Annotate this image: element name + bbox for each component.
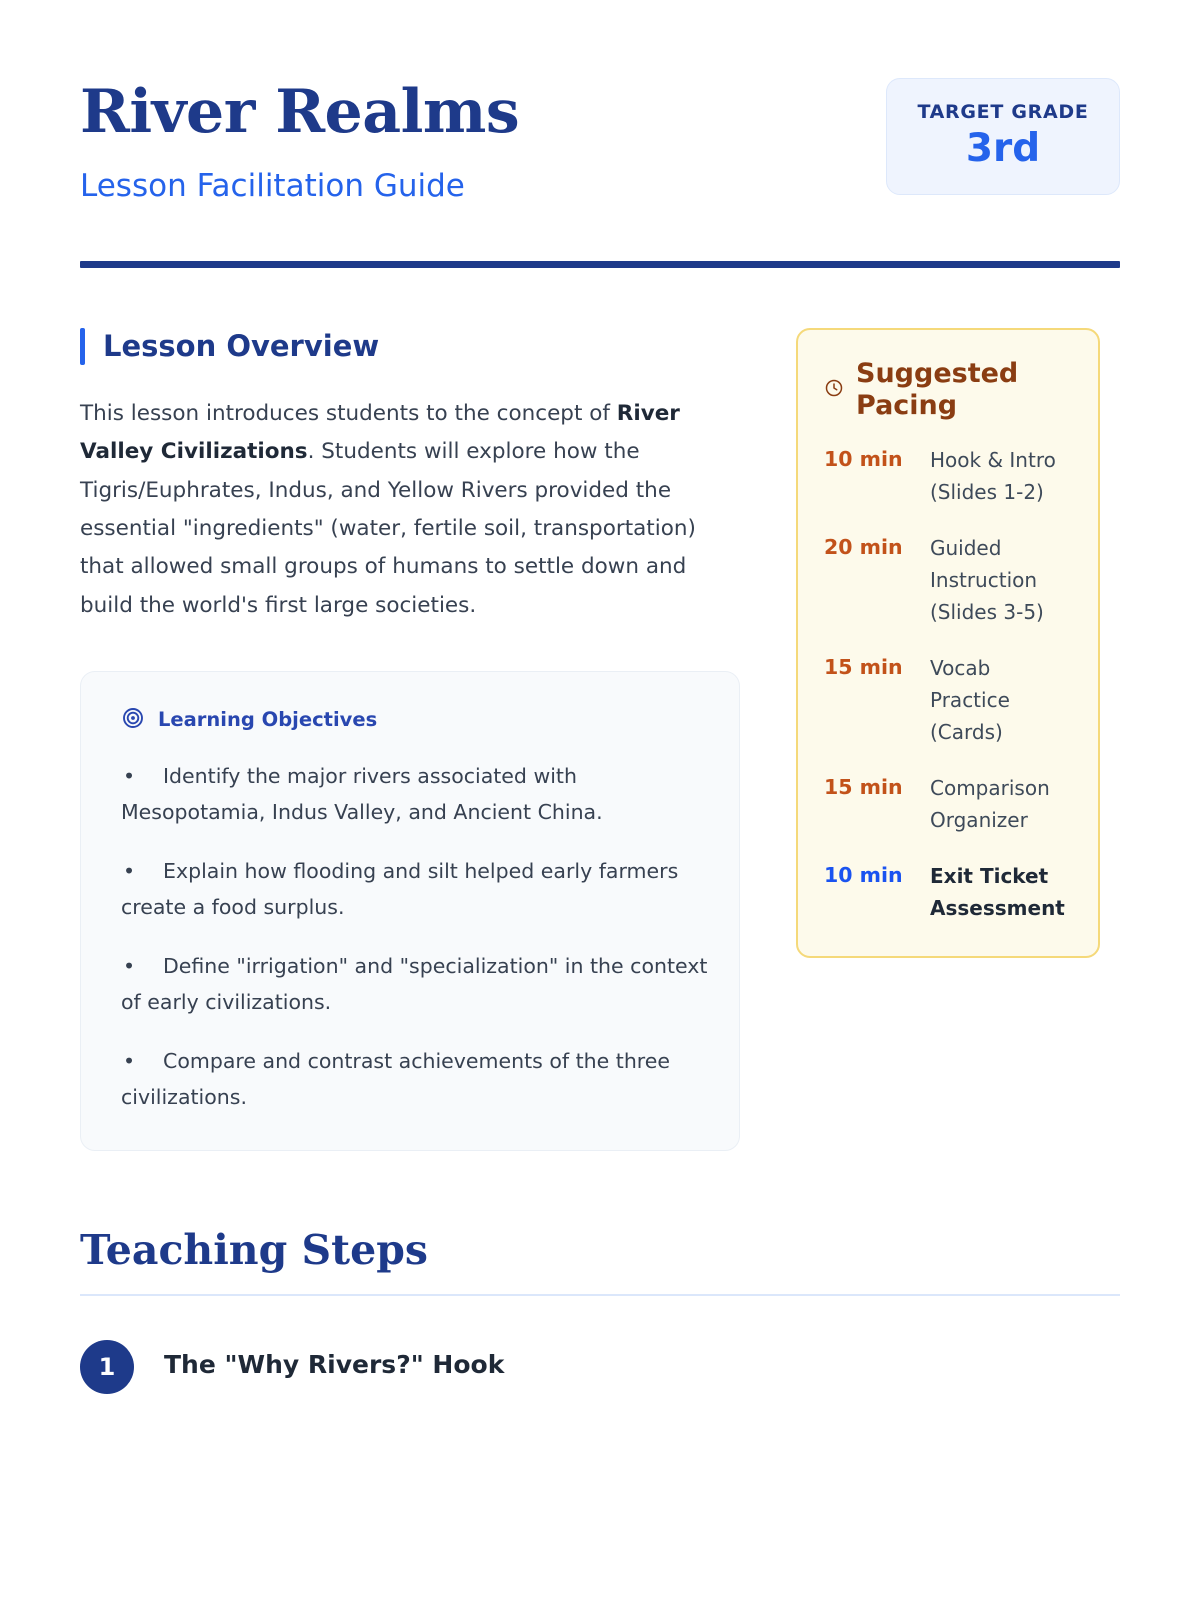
pacing-label: Guided Instruction (Slides 3-5) [930,532,1072,628]
step-number-badge: 1 [80,1340,134,1394]
teaching-step: 1 The "Why Rivers?" Hook [80,1340,1120,1394]
pacing-time: 10 min [824,860,916,892]
pacing-header: Suggested Pacing [824,358,1072,422]
pacing-row: 15 min Vocab Practice (Cards) [824,652,1072,748]
page-title: River Realms [80,82,519,142]
target-grade-badge: TARGET GRADE 3rd [886,78,1120,195]
pacing-time: 20 min [824,532,916,564]
pacing-column: Suggested Pacing 10 min Hook & Intro (Sl… [796,328,1100,958]
pacing-label: Comparison Organizer [930,772,1072,836]
header-divider [80,261,1120,268]
list-item: •Identify the major rivers associated wi… [121,758,709,831]
objectives-header: Learning Objectives [121,706,709,734]
pacing-row: 10 min Hook & Intro (Slides 1-2) [824,444,1072,508]
pacing-label: Vocab Practice (Cards) [930,652,1072,748]
step-title: The "Why Rivers?" Hook [164,1340,504,1382]
page-subtitle: Lesson Facilitation Guide [80,168,519,205]
bullet-icon: • [121,758,163,794]
pacing-row: 10 min Exit Ticket Assessment [824,860,1072,924]
list-item-text: Explain how flooding and silt helped ear… [121,859,678,919]
list-item-text: Compare and contrast achievements of the… [121,1049,670,1109]
list-item: •Explain how flooding and silt helped ea… [121,853,709,926]
pacing-label: Hook & Intro (Slides 1-2) [930,444,1072,508]
overview-text-part1: This lesson introduces students to the c… [80,401,617,426]
bullet-icon: • [121,853,163,889]
teaching-steps-divider [80,1294,1120,1296]
list-item: •Define "irrigation" and "specialization… [121,948,709,1021]
lesson-overview-heading: Lesson Overview [80,328,740,365]
section-accent-bar [80,328,85,365]
objectives-list: •Identify the major rivers associated wi… [121,758,709,1116]
lesson-guide-page: River Realms Lesson Facilitation Guide T… [0,0,1200,1600]
page-header: River Realms Lesson Facilitation Guide T… [80,78,1120,205]
bullet-icon: • [121,1043,163,1079]
overview-text-part2: . Students will explore how the Tigris/E… [80,439,696,617]
target-grade-value: 3rd [897,129,1109,170]
content-area: Lesson Overview This lesson introduces s… [80,328,1120,1150]
list-item-text: Identify the major rivers associated wit… [121,764,603,824]
section-title: Lesson Overview [103,331,379,363]
overview-column: Lesson Overview This lesson introduces s… [80,328,740,1150]
pacing-time: 15 min [824,652,916,684]
list-item-text: Define "irrigation" and "specialization"… [121,954,707,1014]
learning-objectives-card: Learning Objectives •Identify the major … [80,671,740,1151]
pacing-label: Exit Ticket Assessment [930,860,1072,924]
list-item: •Compare and contrast achievements of th… [121,1043,709,1116]
target-grade-label: TARGET GRADE [897,101,1109,123]
pacing-title: Suggested Pacing [856,358,1072,422]
clock-icon [824,378,844,402]
teaching-steps-title: Teaching Steps [80,1229,1120,1272]
header-titles: River Realms Lesson Facilitation Guide [80,78,519,205]
bullet-icon: • [121,948,163,984]
suggested-pacing-card: Suggested Pacing 10 min Hook & Intro (Sl… [796,328,1100,958]
pacing-row: 15 min Comparison Organizer [824,772,1072,836]
teaching-steps-section: Teaching Steps 1 The "Why Rivers?" Hook [80,1229,1120,1394]
overview-paragraph: This lesson introduces students to the c… [80,395,740,625]
pacing-row: 20 min Guided Instruction (Slides 3-5) [824,532,1072,628]
target-icon [121,706,145,734]
objectives-title: Learning Objectives [158,709,377,730]
pacing-time: 15 min [824,772,916,804]
pacing-list: 10 min Hook & Intro (Slides 1-2) 20 min … [824,444,1072,924]
pacing-time: 10 min [824,444,916,476]
